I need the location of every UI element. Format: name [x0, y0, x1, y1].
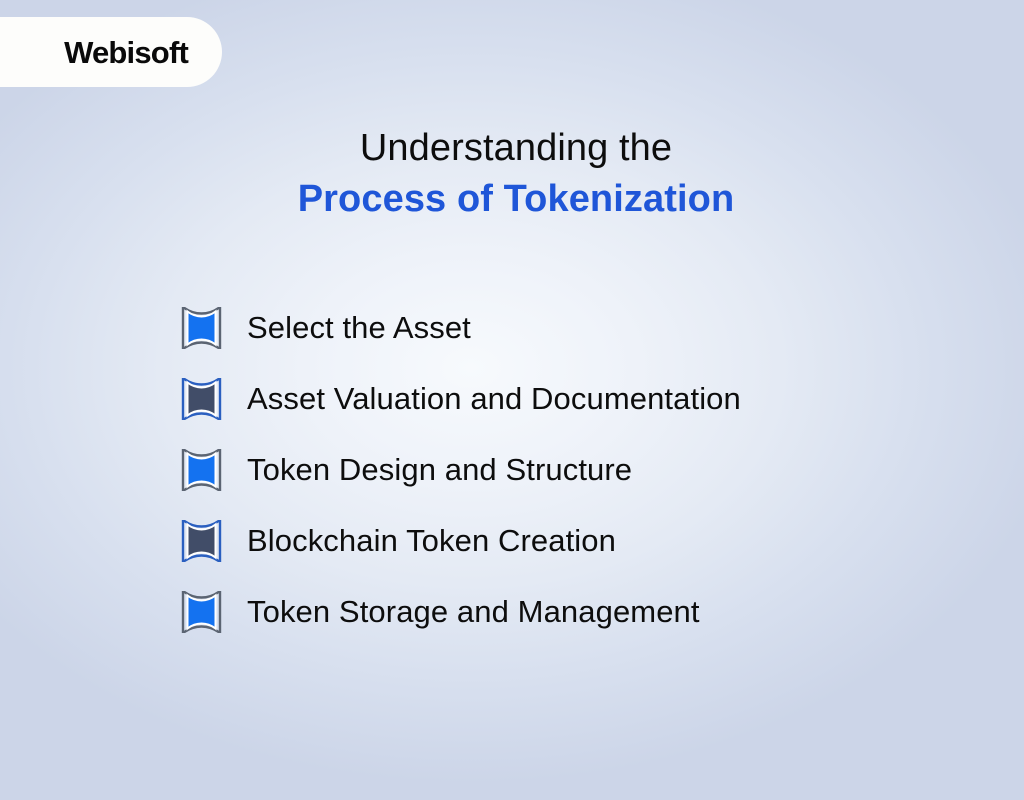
slide-title: Understanding the Process of Tokenizatio… [0, 126, 1024, 222]
brand-logo-text: Webisoft [64, 37, 188, 68]
list-item-label: Blockchain Token Creation [247, 524, 616, 558]
slide-title-line-1: Understanding the [8, 126, 1024, 171]
brand-logo-pill: Webisoft [0, 17, 222, 87]
list-item: Select the Asset [178, 300, 978, 356]
list-item: Token Design and Structure [178, 442, 978, 498]
hexagon-token-icon [178, 449, 225, 491]
slide-title-line-2: Process of Tokenization [8, 176, 1024, 222]
tokenization-steps-list: Select the Asset Asset Valuation and Doc… [178, 300, 978, 655]
hexagon-token-icon [178, 307, 225, 349]
hexagon-token-icon [178, 591, 225, 633]
list-item: Token Storage and Management [178, 584, 978, 640]
hexagon-token-icon [178, 378, 225, 420]
list-item-label: Token Design and Structure [247, 453, 632, 487]
list-item-label: Select the Asset [247, 311, 471, 345]
list-item: Blockchain Token Creation [178, 513, 978, 569]
hexagon-token-icon [178, 520, 225, 562]
list-item: Asset Valuation and Documentation [178, 371, 978, 427]
slide-canvas: Webisoft Understanding the Process of To… [0, 0, 1024, 800]
list-item-label: Asset Valuation and Documentation [247, 382, 741, 416]
list-item-label: Token Storage and Management [247, 595, 700, 629]
